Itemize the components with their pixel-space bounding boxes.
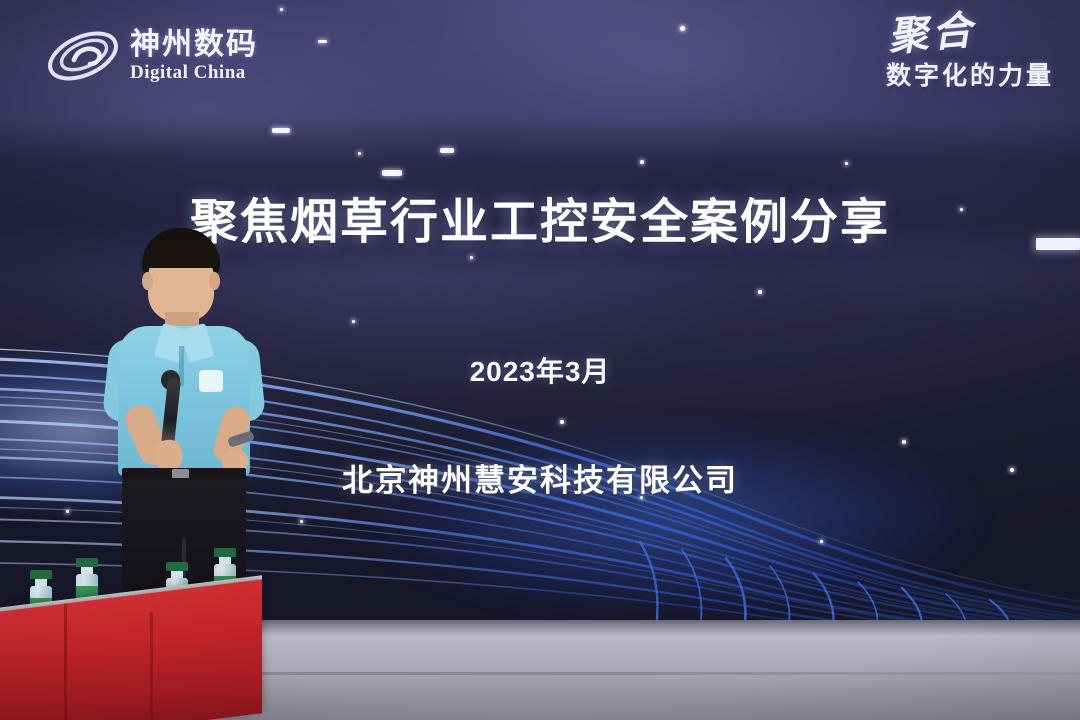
bottle-cap: [76, 558, 98, 567]
light-dash: [382, 170, 402, 176]
particle: [820, 540, 823, 543]
screenshot-root: 神州数码 Digital China 聚合 数字化的力量 聚焦烟草行业工控安全案…: [0, 0, 1080, 720]
particle: [640, 160, 644, 164]
slogan-calligraphy: 聚合: [886, 10, 977, 58]
logo-name-en: Digital China: [130, 63, 258, 82]
swirl-galaxy-mark-icon: [44, 26, 122, 86]
bottle-neck: [171, 571, 183, 578]
bottle-cap: [166, 562, 188, 571]
presenter-ear-left: [142, 272, 153, 290]
presenter-chest-logo: [199, 370, 223, 392]
light-dash: [440, 148, 454, 153]
screen-edge-marker: [1036, 238, 1080, 250]
particle: [845, 162, 848, 165]
bottle-neck: [219, 557, 231, 564]
light-dash: [272, 128, 290, 133]
particle: [352, 320, 355, 323]
particle: [300, 520, 303, 523]
bottle-cap: [214, 548, 236, 557]
event-slogan: 聚合 数字化的力量: [784, 14, 1054, 114]
particle: [470, 256, 473, 259]
bottle-cap: [30, 570, 52, 579]
particle: [280, 8, 283, 11]
table-skirt-fold: [150, 612, 153, 720]
light-dash: [318, 40, 327, 43]
logo-name-cn: 神州数码: [130, 30, 258, 60]
slogan-subtitle: 数字化的力量: [784, 56, 1054, 92]
presenter-ear-right: [209, 272, 220, 290]
particle: [680, 26, 685, 31]
particle: [560, 420, 564, 424]
table-skirt-fold: [64, 604, 67, 720]
bottle-neck: [35, 579, 47, 586]
particle: [758, 290, 762, 294]
particle: [358, 152, 361, 155]
particle: [902, 440, 906, 444]
presenter-hair-fringe: [144, 242, 218, 268]
digital-china-logo: 神州数码 Digital China: [44, 20, 304, 92]
bottle-neck: [81, 567, 93, 574]
particle: [66, 510, 69, 513]
